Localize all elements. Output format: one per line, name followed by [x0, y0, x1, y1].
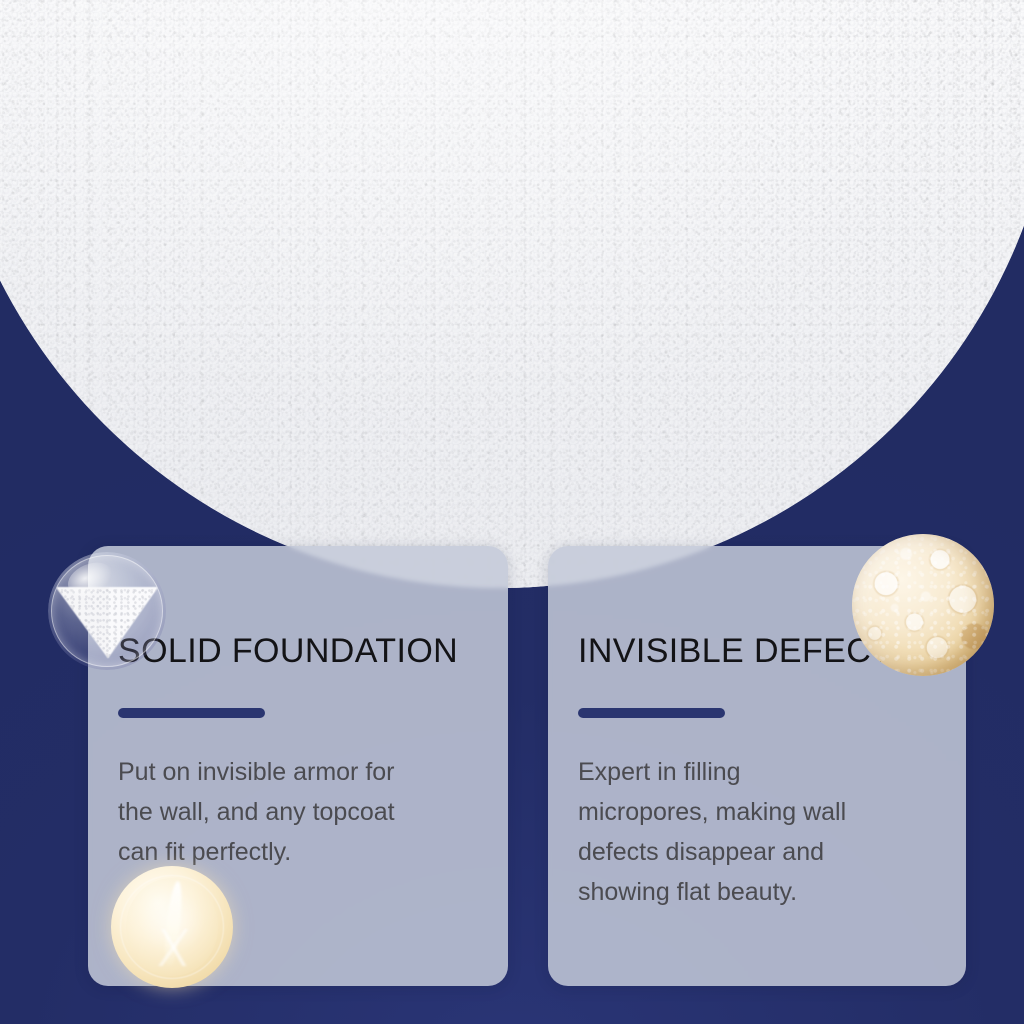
bubble-with-white-powder-icon	[48, 552, 166, 670]
card-divider	[578, 708, 725, 718]
card-title: SOLID FOUNDATION	[118, 634, 458, 668]
card-body-text: Put on invisible armor for the wall, and…	[118, 752, 478, 872]
wall-texture-shading	[0, 0, 1024, 588]
wall-texture-circle-image	[0, 0, 1024, 588]
golden-bubbles-icon	[852, 534, 994, 676]
card-body-text: Expert in filling micropores, making wal…	[578, 752, 928, 912]
card-divider	[118, 708, 265, 718]
promo-poster: SOLID FOUNDATION Put on invisible armor …	[0, 0, 1024, 1024]
bubble-edge-shading	[852, 534, 994, 676]
sphere-rim	[120, 875, 225, 980]
golden-sphere-icon	[111, 866, 233, 988]
